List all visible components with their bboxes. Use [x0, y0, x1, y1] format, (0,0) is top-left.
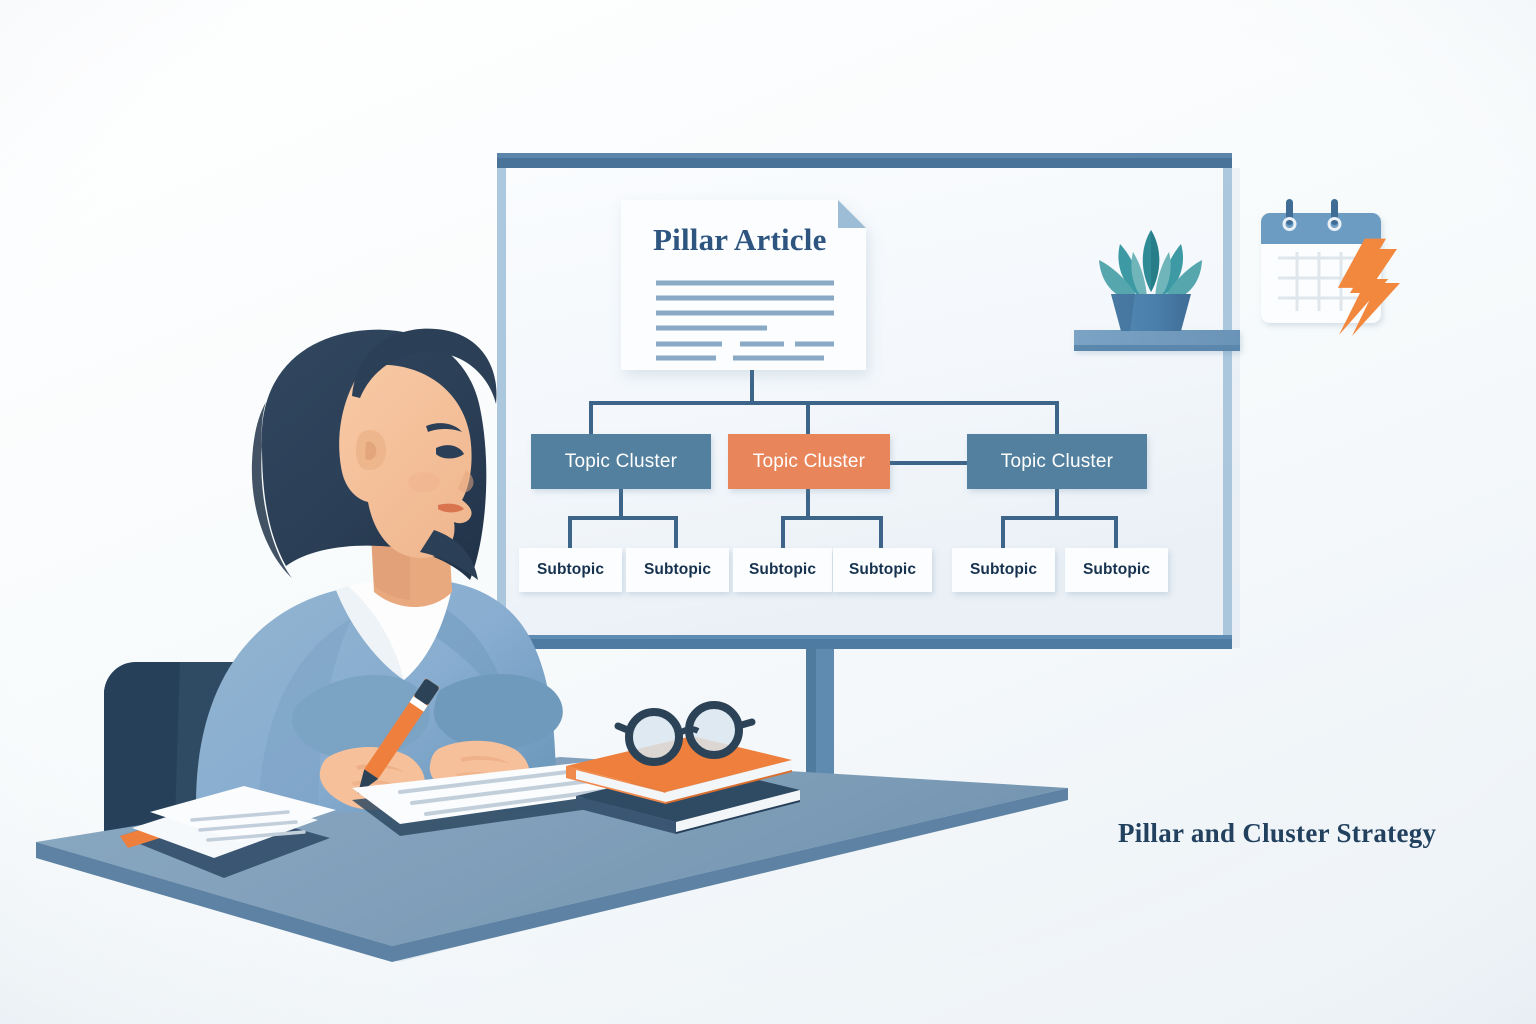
left-arm-sleeve: [434, 674, 563, 749]
subtopic-label-1[interactable]: Subtopic: [626, 548, 729, 592]
glasses-temple: [738, 722, 752, 726]
foreground-layer: [0, 0, 1536, 1024]
subtopic-label-5[interactable]: Subtopic: [1065, 548, 1168, 592]
subtopic-label-2[interactable]: Subtopic: [733, 548, 832, 592]
subtopic-label-0[interactable]: Subtopic: [519, 548, 622, 592]
illustration-canvas: Pillar Article Topic Cluster Topic Clust…: [0, 0, 1536, 1024]
glasses-temple: [618, 726, 630, 731]
pillar-article-title: Pillar Article: [653, 222, 827, 258]
cluster-label-2[interactable]: Topic Cluster: [967, 434, 1147, 489]
subtopic-label-3[interactable]: Subtopic: [833, 548, 932, 592]
illustration-caption: Pillar and Cluster Strategy: [1118, 818, 1436, 849]
cluster-label-0[interactable]: Topic Cluster: [531, 434, 711, 489]
subtopic-label-4[interactable]: Subtopic: [952, 548, 1055, 592]
cluster-label-1[interactable]: Topic Cluster: [728, 434, 890, 489]
